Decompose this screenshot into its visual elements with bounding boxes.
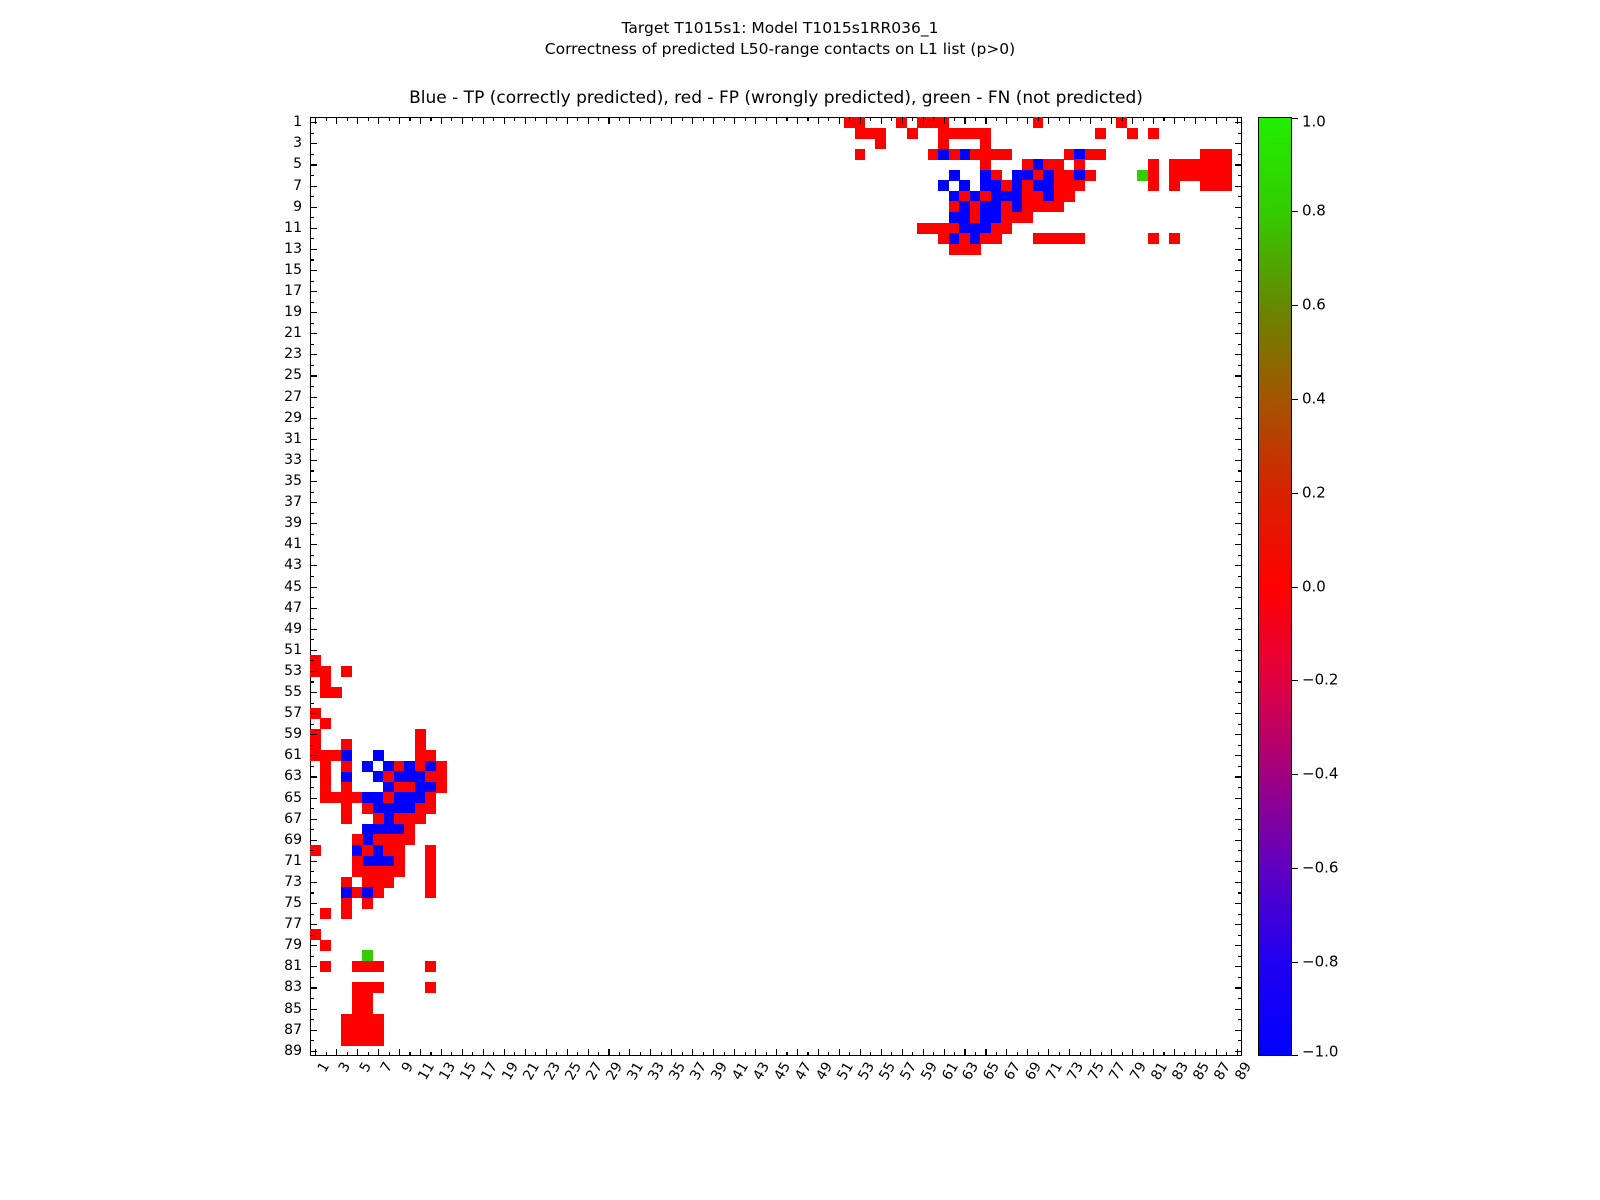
- x-tick: [870, 1052, 871, 1056]
- x-tick: [661, 1052, 662, 1056]
- contact-cell: [959, 128, 970, 139]
- x-tick: [1226, 1052, 1227, 1056]
- contact-map-plot: [310, 117, 1242, 1056]
- contact-cell: [341, 750, 352, 761]
- x-tick: [472, 117, 473, 121]
- x-tick: [881, 1049, 882, 1056]
- contact-cell: [1221, 180, 1232, 191]
- x-tick: [1226, 117, 1227, 121]
- x-tick: [514, 1052, 515, 1056]
- y-tick: [1238, 956, 1242, 957]
- x-tick: [682, 117, 683, 121]
- contact-cell: [1148, 170, 1159, 181]
- contact-cell: [373, 1035, 384, 1046]
- contact-cell: [341, 666, 352, 677]
- x-tick: [1195, 117, 1196, 124]
- y-tick: [310, 745, 314, 746]
- x-tick: [912, 117, 913, 121]
- x-tick-label: 51: [835, 1060, 856, 1082]
- x-tick: [420, 1049, 421, 1056]
- colorbar-tick-label: −0.4: [1302, 767, 1338, 782]
- contact-cell: [865, 128, 876, 139]
- contact-cell: [362, 1035, 373, 1046]
- contact-cell: [425, 803, 436, 814]
- x-tick: [1184, 117, 1185, 121]
- contact-cell: [425, 877, 436, 888]
- x-tick-label: 55: [877, 1060, 898, 1082]
- contact-cell: [383, 803, 394, 814]
- y-tick: [310, 914, 314, 915]
- x-tick: [745, 1052, 746, 1056]
- y-tick: [310, 418, 317, 419]
- x-tick: [1216, 117, 1217, 124]
- x-tick-label: 89: [1233, 1060, 1254, 1082]
- contact-cell: [341, 792, 352, 803]
- x-tick: [1153, 117, 1154, 124]
- x-tick: [640, 1052, 641, 1056]
- y-tick: [1238, 470, 1242, 471]
- contact-cell: [362, 803, 373, 814]
- contact-cell: [1001, 212, 1012, 223]
- contact-cell: [362, 824, 373, 835]
- y-tick: [1238, 681, 1242, 682]
- contact-cell: [362, 887, 373, 898]
- x-tick: [828, 1052, 829, 1056]
- y-tick: [1235, 1009, 1242, 1010]
- y-tick: [1238, 365, 1242, 366]
- contact-cell: [425, 856, 436, 867]
- contact-cell: [320, 676, 331, 687]
- colorbar-tick: [1292, 211, 1298, 212]
- contact-cell: [980, 170, 991, 181]
- y-tick-label: 67: [284, 812, 302, 826]
- x-tick: [430, 1052, 431, 1056]
- contact-cell: [1054, 233, 1065, 244]
- y-tick-label: 27: [284, 390, 302, 404]
- x-tick: [996, 117, 997, 121]
- x-tick: [409, 117, 410, 121]
- y-tick-label: 61: [284, 748, 302, 762]
- y-tick: [310, 724, 314, 725]
- x-tick: [378, 1049, 379, 1056]
- contact-cell: [373, 1024, 384, 1035]
- y-tick: [310, 470, 314, 471]
- x-tick-label: 33: [646, 1060, 667, 1082]
- contact-cell: [362, 950, 373, 961]
- x-tick-label: 77: [1107, 1060, 1128, 1082]
- colorbar-tick: [1292, 774, 1298, 775]
- contact-cell: [373, 792, 384, 803]
- colorbar-tick-label: 0.2: [1302, 485, 1326, 500]
- contact-cell: [320, 782, 331, 793]
- x-tick: [493, 1052, 494, 1056]
- y-tick: [1235, 333, 1242, 334]
- y-tick: [1235, 354, 1242, 355]
- x-tick-label: 87: [1212, 1060, 1233, 1082]
- contact-cell: [415, 792, 426, 803]
- contact-cell: [352, 1003, 363, 1014]
- y-tick-label: 33: [284, 453, 302, 467]
- x-tick: [1090, 117, 1091, 124]
- y-tick: [310, 534, 314, 535]
- contact-cell: [1022, 159, 1033, 170]
- y-tick: [1238, 196, 1242, 197]
- contact-cell: [1085, 149, 1096, 160]
- x-tick: [703, 117, 704, 121]
- contact-cell: [1200, 149, 1211, 160]
- y-tick: [1238, 766, 1242, 767]
- y-tick: [1235, 713, 1242, 714]
- contact-cell: [373, 877, 384, 888]
- contact-cell: [373, 750, 384, 761]
- x-tick-label: 61: [940, 1060, 961, 1082]
- contact-cell: [1200, 170, 1211, 181]
- y-tick: [1238, 217, 1242, 218]
- x-tick: [818, 117, 819, 124]
- y-tick-label: 83: [284, 980, 302, 994]
- contact-cell: [436, 782, 447, 793]
- contact-cell: [991, 223, 1002, 234]
- y-tick: [310, 196, 314, 197]
- x-tick: [964, 1049, 965, 1056]
- y-tick: [310, 281, 314, 282]
- contact-cell: [394, 813, 405, 824]
- y-tick: [310, 122, 317, 123]
- y-tick: [310, 787, 314, 788]
- x-tick-label: 23: [542, 1060, 563, 1082]
- contact-cell: [362, 877, 373, 888]
- x-tick-label: 43: [751, 1060, 772, 1082]
- y-tick: [1235, 312, 1242, 313]
- contact-cell: [1012, 191, 1023, 202]
- y-tick: [1238, 977, 1242, 978]
- y-tick: [1238, 787, 1242, 788]
- x-tick: [472, 1052, 473, 1056]
- y-tick: [1235, 249, 1242, 250]
- y-tick: [1238, 428, 1242, 429]
- contact-cell: [425, 792, 436, 803]
- contact-cell: [959, 233, 970, 244]
- y-tick-label: 57: [284, 706, 302, 720]
- x-tick: [1090, 1049, 1091, 1056]
- x-tick: [1069, 117, 1070, 124]
- y-tick: [310, 861, 317, 862]
- colorbar-tick-label: −0.6: [1302, 861, 1338, 876]
- contact-cell: [1043, 180, 1054, 191]
- x-tick: [556, 1052, 557, 1056]
- y-tick: [1235, 650, 1242, 651]
- x-tick: [1195, 1049, 1196, 1056]
- x-tick: [1048, 117, 1049, 124]
- x-tick: [1080, 1052, 1081, 1056]
- contact-cell: [373, 845, 384, 856]
- y-tick-label: 17: [284, 284, 302, 298]
- contact-cell: [970, 233, 981, 244]
- y-tick-label: 49: [284, 622, 302, 636]
- x-tick: [399, 117, 400, 124]
- x-tick: [525, 1049, 526, 1056]
- x-tick: [849, 1052, 850, 1056]
- x-tick: [671, 1049, 672, 1056]
- x-tick: [451, 1052, 452, 1056]
- y-tick: [310, 597, 314, 598]
- y-tick: [1235, 502, 1242, 503]
- contact-cell: [949, 244, 960, 255]
- contact-cell: [404, 824, 415, 835]
- x-tick: [1017, 117, 1018, 121]
- contact-cell: [1169, 159, 1180, 170]
- x-tick: [766, 117, 767, 121]
- y-tick: [1238, 344, 1242, 345]
- x-tick: [650, 117, 651, 124]
- contact-cell: [1221, 159, 1232, 170]
- y-tick: [310, 302, 314, 303]
- x-tick: [839, 117, 840, 124]
- x-tick-label: 57: [898, 1060, 919, 1082]
- y-tick: [310, 143, 317, 144]
- x-tick: [1048, 1049, 1049, 1056]
- contact-cell: [991, 180, 1002, 191]
- contact-cell: [425, 750, 436, 761]
- y-tick: [1238, 281, 1242, 282]
- x-tick-label: 49: [814, 1060, 835, 1082]
- y-tick: [1235, 291, 1242, 292]
- contact-cell: [436, 771, 447, 782]
- y-tick-label: 75: [284, 896, 302, 910]
- x-tick: [451, 117, 452, 121]
- y-tick: [310, 492, 314, 493]
- contact-cell: [855, 128, 866, 139]
- contact-cell: [1200, 180, 1211, 191]
- x-tick: [504, 117, 505, 124]
- x-tick-label: 11: [416, 1060, 437, 1082]
- x-tick: [1006, 117, 1007, 124]
- y-tick: [310, 228, 317, 229]
- y-tick: [310, 660, 314, 661]
- colorbar-tick-label: 0.8: [1302, 203, 1326, 218]
- y-tick-label: 35: [284, 474, 302, 488]
- contact-cell: [980, 201, 991, 212]
- contact-cell: [352, 834, 363, 845]
- contact-cell: [383, 782, 394, 793]
- contact-cell: [1148, 159, 1159, 170]
- x-tick-label: 1: [316, 1060, 333, 1075]
- y-tick-label: 9: [293, 200, 302, 214]
- contact-cell: [352, 845, 363, 856]
- contact-cell: [373, 866, 384, 877]
- x-tick-label: 45: [772, 1060, 793, 1082]
- contact-cell: [1012, 212, 1023, 223]
- contact-cell: [394, 771, 405, 782]
- y-tick: [310, 977, 314, 978]
- colorbar-tick-label: −1.0: [1302, 1045, 1338, 1060]
- x-tick: [389, 1052, 390, 1056]
- contact-cell: [341, 1024, 352, 1035]
- y-tick: [310, 734, 317, 735]
- contact-cell: [1064, 191, 1075, 202]
- y-tick: [310, 671, 317, 672]
- y-tick: [1235, 671, 1242, 672]
- x-tick: [964, 117, 965, 124]
- contact-cell: [331, 792, 342, 803]
- x-tick: [525, 117, 526, 124]
- y-tick: [310, 407, 314, 408]
- x-tick: [1205, 1052, 1206, 1056]
- contact-cell: [394, 803, 405, 814]
- colorbar-tick-label: 0.6: [1302, 297, 1326, 312]
- contact-cell: [938, 149, 949, 160]
- contact-cell: [341, 761, 352, 772]
- y-tick-label: 87: [284, 1023, 302, 1037]
- contact-cell: [875, 138, 886, 149]
- x-tick: [692, 1049, 693, 1056]
- x-tick: [954, 117, 955, 121]
- y-tick: [310, 565, 317, 566]
- x-tick: [807, 1052, 808, 1056]
- colorbar-tick: [1292, 868, 1298, 869]
- y-tick: [310, 523, 317, 524]
- contact-cell: [362, 1014, 373, 1025]
- contact-cell: [341, 813, 352, 824]
- contact-cell: [352, 887, 363, 898]
- contact-cell: [1179, 159, 1190, 170]
- contact-cell: [907, 128, 918, 139]
- y-tick: [1235, 544, 1242, 545]
- x-tick: [546, 117, 547, 124]
- contact-cell: [415, 729, 426, 740]
- colorbar-gradient: [1258, 117, 1292, 1056]
- contact-cell: [425, 782, 436, 793]
- y-tick: [310, 323, 314, 324]
- contact-cell: [1221, 149, 1232, 160]
- contact-cell: [991, 170, 1002, 181]
- x-tick: [608, 1049, 609, 1056]
- y-tick: [310, 639, 314, 640]
- contact-cell: [1137, 170, 1148, 181]
- x-tick: [1069, 1049, 1070, 1056]
- x-tick: [985, 1049, 986, 1056]
- contact-cell: [373, 887, 384, 898]
- y-tick: [310, 175, 314, 176]
- y-tick: [310, 259, 314, 260]
- y-tick: [1235, 966, 1242, 967]
- y-tick: [1238, 935, 1242, 936]
- contact-cell: [394, 834, 405, 845]
- contact-cell: [1148, 233, 1159, 244]
- x-tick: [944, 117, 945, 124]
- x-tick: [567, 1049, 568, 1056]
- contact-cell: [383, 877, 394, 888]
- colorbar-tick-label: 0.0: [1302, 579, 1326, 594]
- y-tick: [1238, 829, 1242, 830]
- contact-cell: [341, 1014, 352, 1025]
- colorbar-tick-label: 0.4: [1302, 391, 1326, 406]
- contact-cell: [320, 908, 331, 919]
- y-tick-label: 53: [284, 664, 302, 678]
- y-tick: [310, 513, 314, 514]
- contact-cell: [404, 834, 415, 845]
- contact-cell: [928, 149, 939, 160]
- x-tick: [734, 1049, 735, 1056]
- contact-cell: [394, 761, 405, 772]
- contact-cell: [373, 982, 384, 993]
- contact-cell: [980, 233, 991, 244]
- contact-cell: [1148, 128, 1159, 139]
- contact-cell: [404, 771, 415, 782]
- y-tick: [310, 449, 314, 450]
- contact-cell: [1085, 170, 1096, 181]
- x-tick-label: 21: [521, 1060, 542, 1082]
- y-tick-label: 11: [284, 221, 302, 235]
- x-tick: [724, 117, 725, 121]
- contact-cell: [362, 761, 373, 772]
- x-tick: [902, 117, 903, 124]
- y-tick: [1238, 386, 1242, 387]
- y-tick-label: 43: [284, 558, 302, 572]
- contact-cell: [949, 233, 960, 244]
- contact-cell: [320, 792, 331, 803]
- y-tick: [310, 882, 317, 883]
- contact-cell: [341, 908, 352, 919]
- x-tick: [724, 1052, 725, 1056]
- x-tick-label: 79: [1128, 1060, 1149, 1082]
- x-tick-label: 67: [1002, 1060, 1023, 1082]
- y-tick: [310, 850, 314, 851]
- x-tick: [399, 1049, 400, 1056]
- y-tick: [1235, 270, 1242, 271]
- contact-cell: [425, 866, 436, 877]
- x-tick: [797, 117, 798, 124]
- contact-cell: [383, 845, 394, 856]
- y-tick: [1235, 882, 1242, 883]
- x-tick: [368, 117, 369, 121]
- contact-cell: [875, 128, 886, 139]
- y-tick: [1235, 755, 1242, 756]
- contact-cell: [425, 845, 436, 856]
- x-tick: [1027, 1049, 1028, 1056]
- x-tick: [839, 1049, 840, 1056]
- contact-cell: [1211, 159, 1222, 170]
- y-tick: [310, 312, 317, 313]
- y-tick: [1235, 903, 1242, 904]
- x-tick: [1059, 1052, 1060, 1056]
- x-tick: [818, 1049, 819, 1056]
- y-tick-label: 81: [284, 959, 302, 973]
- contact-cell: [1200, 159, 1211, 170]
- contact-cell: [1211, 170, 1222, 181]
- y-axis-tick-labels: 1357911131517192123252729313335373941434…: [268, 117, 302, 1056]
- contact-cell: [949, 149, 960, 160]
- x-tick: [1205, 117, 1206, 121]
- colorbar-tick: [1292, 118, 1298, 119]
- contact-cell: [394, 792, 405, 803]
- x-tick: [1143, 1052, 1144, 1056]
- contact-cell: [415, 803, 426, 814]
- y-tick: [1235, 987, 1242, 988]
- y-tick: [1238, 998, 1242, 999]
- contact-cell: [970, 149, 981, 160]
- y-tick: [310, 1051, 317, 1052]
- colorbar-tick: [1292, 305, 1298, 306]
- x-tick: [734, 117, 735, 124]
- x-tick-label: 75: [1086, 1060, 1107, 1082]
- x-tick: [944, 1049, 945, 1056]
- contact-cell: [1064, 180, 1075, 191]
- x-tick: [1111, 1049, 1112, 1056]
- x-tick: [766, 1052, 767, 1056]
- y-tick: [310, 829, 314, 830]
- contact-cell: [1001, 191, 1012, 202]
